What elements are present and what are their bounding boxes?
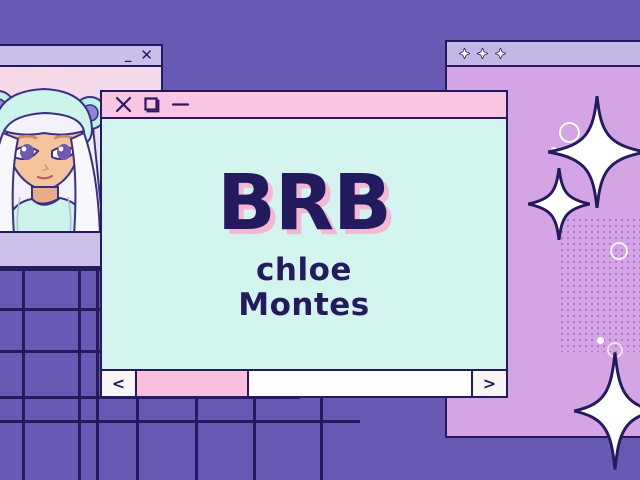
minimize-icon[interactable]: _: [125, 49, 132, 62]
sparkle-window-titlebar[interactable]: [447, 42, 640, 67]
diamond-icon: [495, 48, 506, 59]
brb-window[interactable]: BRB BRB chloe Montes < >: [100, 90, 508, 398]
streamer-name-line2: Montes: [238, 288, 370, 323]
four-point-star-icon: [528, 168, 590, 240]
scroll-right-button[interactable]: >: [471, 371, 506, 396]
four-point-star-icon: [574, 352, 640, 470]
streamer-name-line1: chloe: [256, 253, 352, 288]
brb-window-titlebar[interactable]: [102, 92, 506, 119]
scroll-left-button[interactable]: <: [102, 371, 137, 396]
brb-heading: BRB BRB: [217, 161, 391, 247]
brb-window-content: BRB BRB chloe Montes: [102, 119, 506, 369]
close-icon[interactable]: ✕: [140, 48, 153, 63]
scrollbar-thumb[interactable]: [137, 371, 249, 396]
diamond-icon: [459, 48, 470, 59]
diamond-icon: [477, 48, 488, 59]
scrollbar-track[interactable]: [137, 371, 471, 396]
horizontal-scrollbar[interactable]: < >: [102, 369, 506, 396]
wallpaper-canvas: _ ✕: [0, 0, 640, 480]
decor-circle: [610, 242, 628, 260]
close-icon[interactable]: [115, 96, 132, 113]
minimize-icon[interactable]: [171, 96, 190, 113]
maximize-icon[interactable]: [143, 96, 160, 113]
avatar-window-titlebar[interactable]: _ ✕: [0, 46, 161, 67]
decor-dot: [597, 337, 604, 344]
brb-heading-text: BRB: [217, 161, 391, 247]
